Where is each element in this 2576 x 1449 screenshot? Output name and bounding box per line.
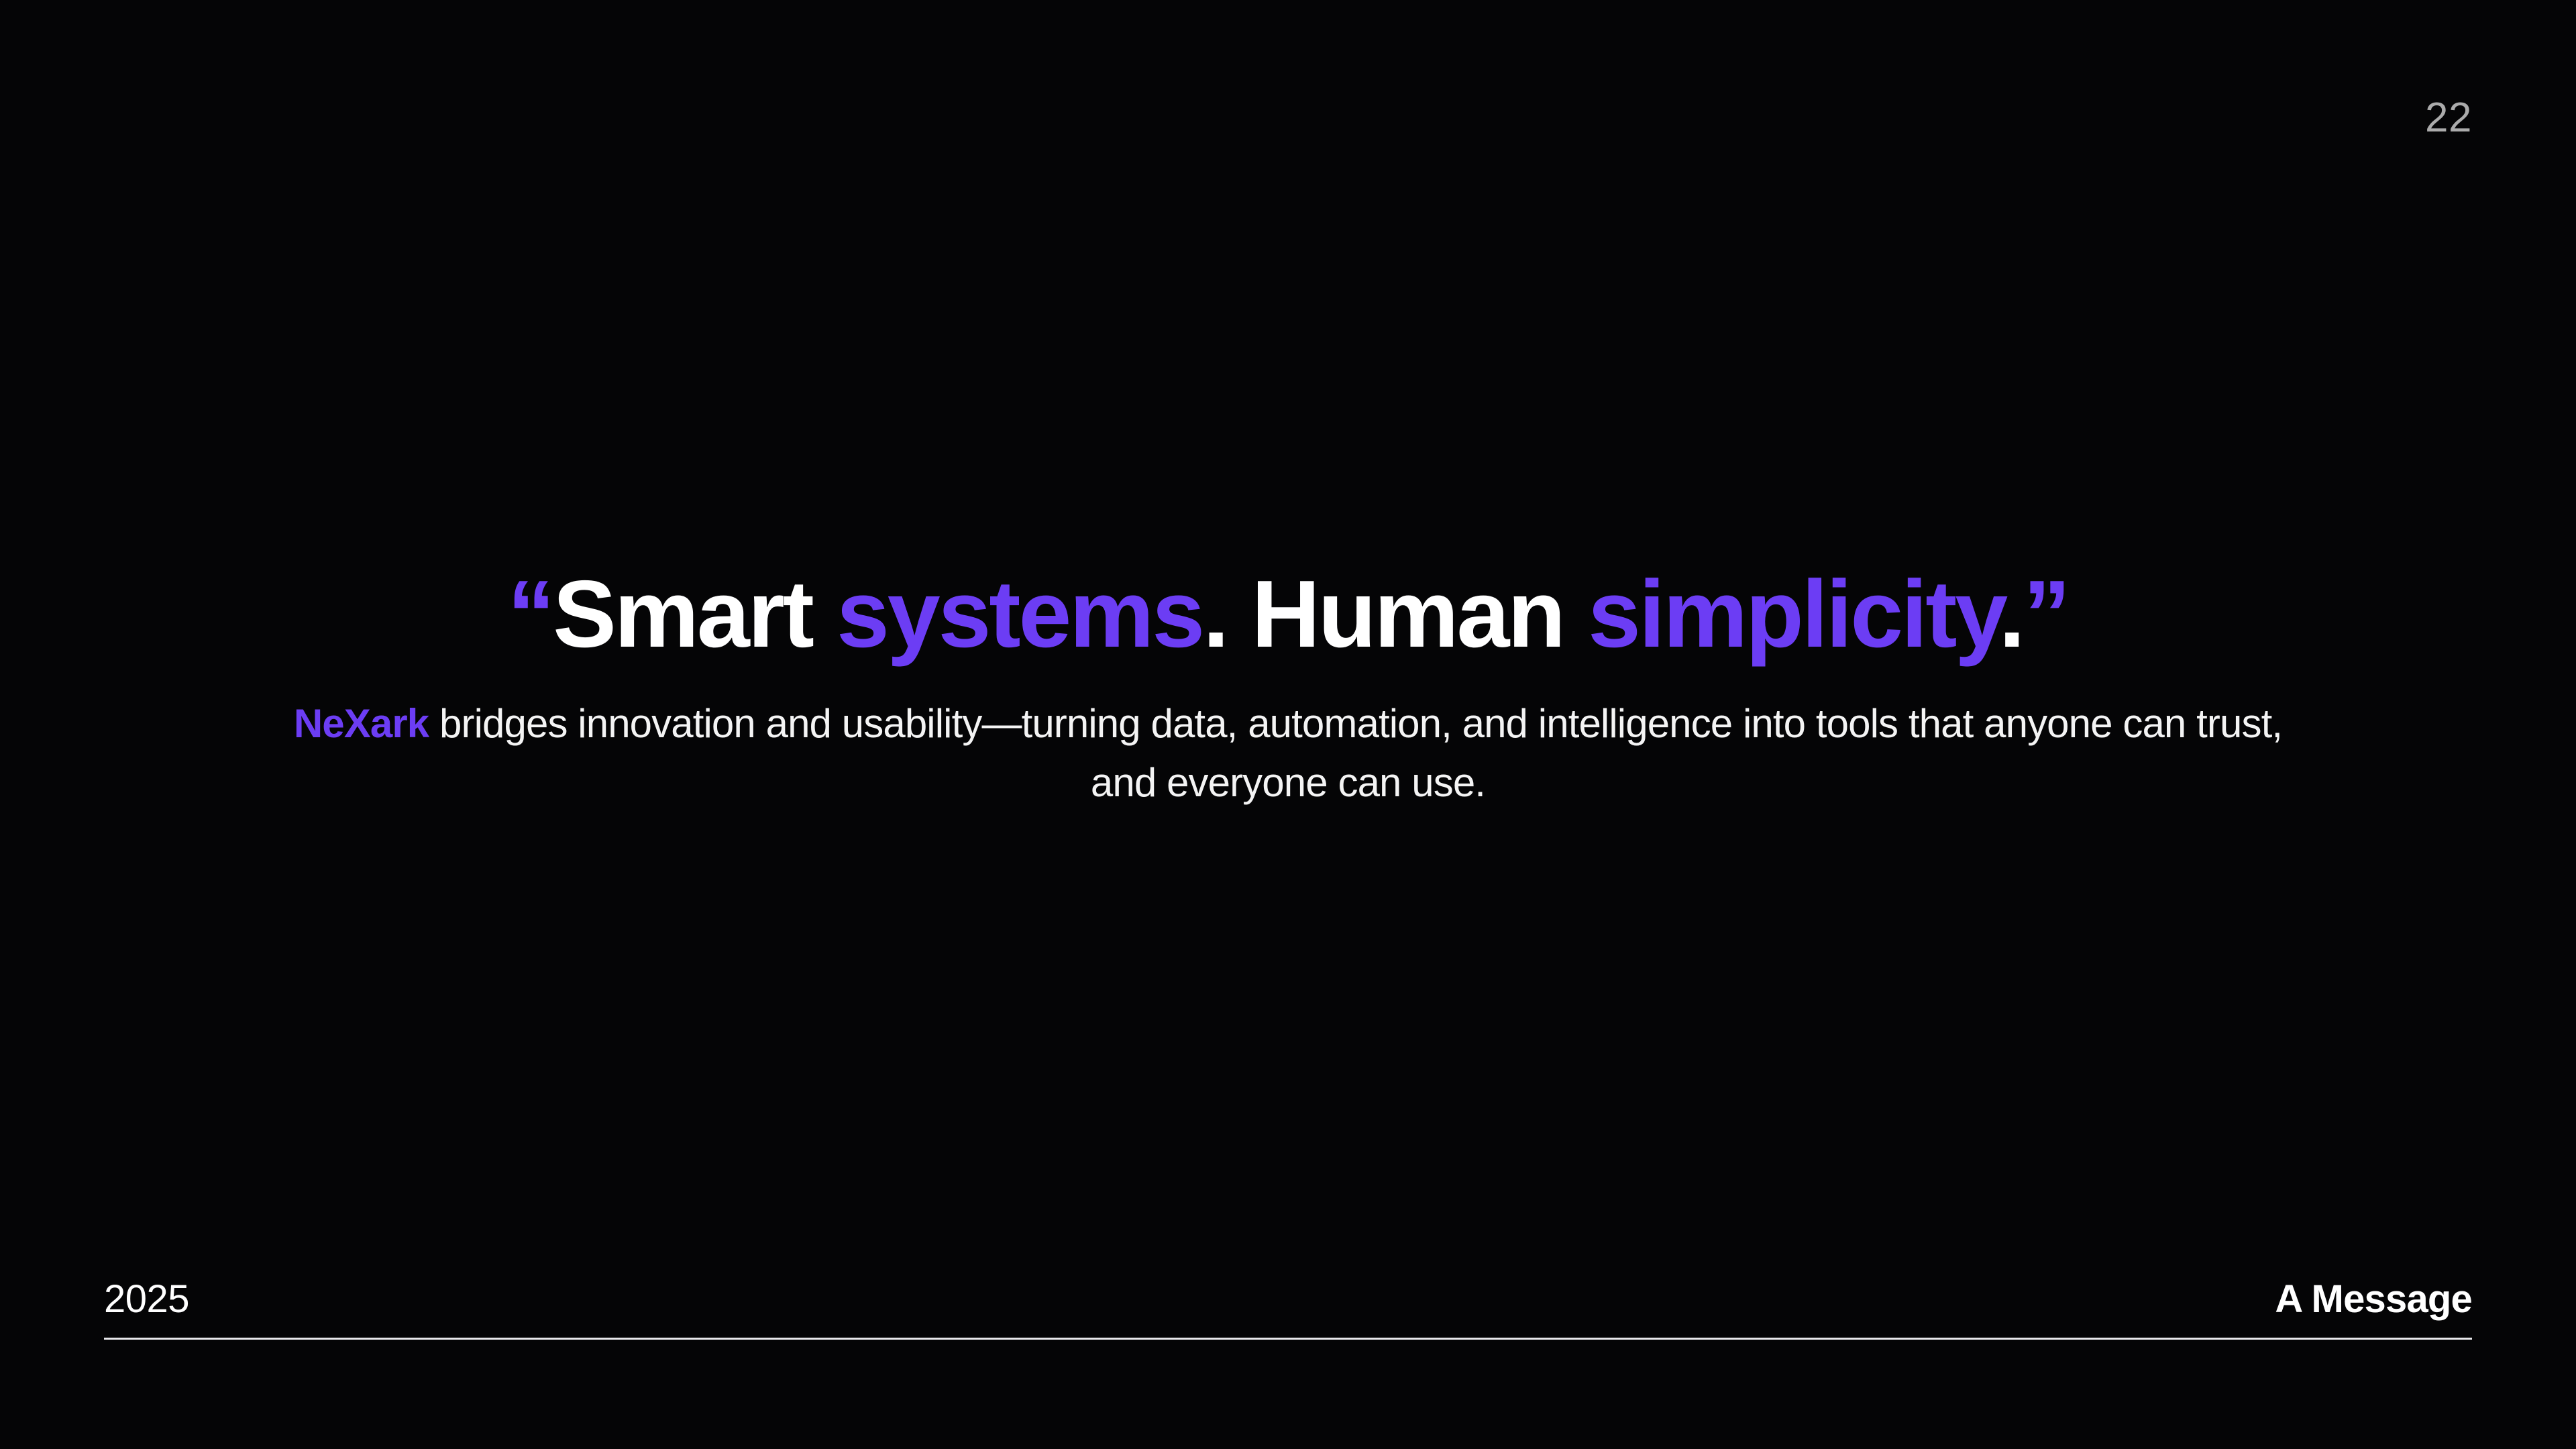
open-quote-mark: “ (507, 561, 553, 667)
slide-root: 22 “Smart systems. Human simplicity.” Ne… (0, 0, 2576, 1449)
page-title: “Smart systems. Human simplicity.” (161, 567, 2415, 662)
slide-footer: 2025 A Message (104, 1268, 2472, 1342)
footer-year: 2025 (104, 1280, 189, 1319)
footer-section-label: A Message (2275, 1280, 2472, 1319)
brand-name: NeXark (294, 701, 429, 746)
subtitle-paragraph: NeXark bridges innovation and usability—… (285, 694, 2291, 812)
footer-row: 2025 A Message (104, 1268, 2472, 1319)
footer-divider (104, 1338, 2472, 1340)
headline-accent-systems: systems (837, 561, 1203, 667)
subtitle-body: bridges innovation and usability—turning… (429, 701, 2282, 805)
page-number: 22 (2425, 97, 2472, 139)
close-quote-mark: ” (2023, 561, 2069, 667)
center-content-block: “Smart systems. Human simplicity.” NeXar… (0, 567, 2576, 812)
headline-segment-1: Smart (553, 561, 837, 667)
headline-segment-3: . (1999, 561, 2023, 667)
headline-segment-2: . Human (1203, 561, 1588, 667)
headline-accent-simplicity: simplicity (1588, 561, 1998, 667)
